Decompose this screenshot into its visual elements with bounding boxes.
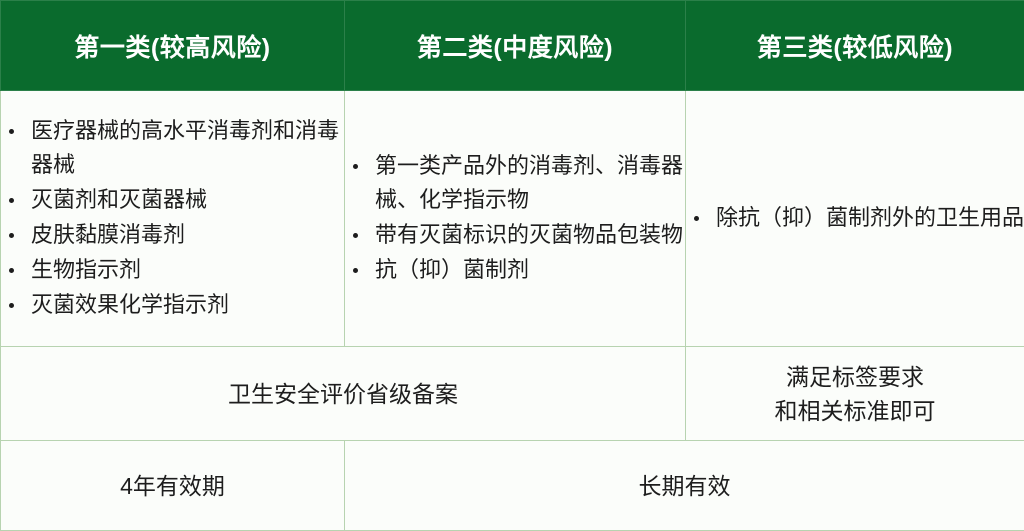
evaluation-requirement-cell-class-3: 满足标签要求 和相关标准即可 [686, 347, 1024, 441]
table-row: 卫生安全评价省级备案 满足标签要求 和相关标准即可 [1, 347, 1024, 441]
table-row: 医疗器械的高水平消毒剂和消毒器械 灭菌剂和灭菌器械 皮肤黏膜消毒剂 生物指示剂 … [1, 91, 1024, 347]
list-item: 皮肤黏膜消毒剂 [1, 218, 344, 252]
risk-classification-table: 第一类(较高风险) 第二类(中度风险) 第三类(较低风险) 医疗器械的高水平消毒… [0, 0, 1024, 531]
table-header-row: 第一类(较高风险) 第二类(中度风险) 第三类(较低风险) [1, 1, 1024, 91]
list-item: 抗（抑）菌制剂 [345, 253, 685, 287]
product-scope-cell-class-2: 第一类产品外的消毒剂、消毒器械、化学指示物 带有灭菌标识的灭菌物品包装物 抗（抑… [345, 91, 686, 347]
header-cell-class-1: 第一类(较高风险) [1, 1, 345, 91]
validity-period-cell-class-1: 4年有效期 [1, 441, 345, 531]
product-scope-cell-class-3: 除抗（抑）菌制剂外的卫生用品 [686, 91, 1024, 347]
product-scope-cell-class-1: 医疗器械的高水平消毒剂和消毒器械 灭菌剂和灭菌器械 皮肤黏膜消毒剂 生物指示剂 … [1, 91, 345, 347]
table-row: 4年有效期 长期有效 [1, 441, 1024, 531]
list-item: 灭菌剂和灭菌器械 [1, 183, 344, 217]
list-item: 医疗器械的高水平消毒剂和消毒器械 [1, 114, 344, 182]
bullet-list: 除抗（抑）菌制剂外的卫生用品 [686, 201, 1024, 235]
risk-classification-table-container: 第一类(较高风险) 第二类(中度风险) 第三类(较低风险) 医疗器械的高水平消毒… [0, 0, 1024, 526]
list-item: 灭菌效果化学指示剂 [1, 288, 344, 322]
list-item: 第一类产品外的消毒剂、消毒器械、化学指示物 [345, 149, 685, 217]
evaluation-requirement-cell-class-1-2: 卫生安全评价省级备案 [1, 347, 686, 441]
list-item: 生物指示剂 [1, 253, 344, 287]
list-item: 除抗（抑）菌制剂外的卫生用品 [686, 201, 1024, 235]
bullet-list: 第一类产品外的消毒剂、消毒器械、化学指示物 带有灭菌标识的灭菌物品包装物 抗（抑… [345, 149, 685, 287]
header-cell-class-3: 第三类(较低风险) [686, 1, 1024, 91]
header-cell-class-2: 第二类(中度风险) [345, 1, 686, 91]
bullet-list: 医疗器械的高水平消毒剂和消毒器械 灭菌剂和灭菌器械 皮肤黏膜消毒剂 生物指示剂 … [1, 114, 344, 322]
validity-period-cell-class-2-3: 长期有效 [345, 441, 1024, 531]
list-item: 带有灭菌标识的灭菌物品包装物 [345, 218, 685, 252]
